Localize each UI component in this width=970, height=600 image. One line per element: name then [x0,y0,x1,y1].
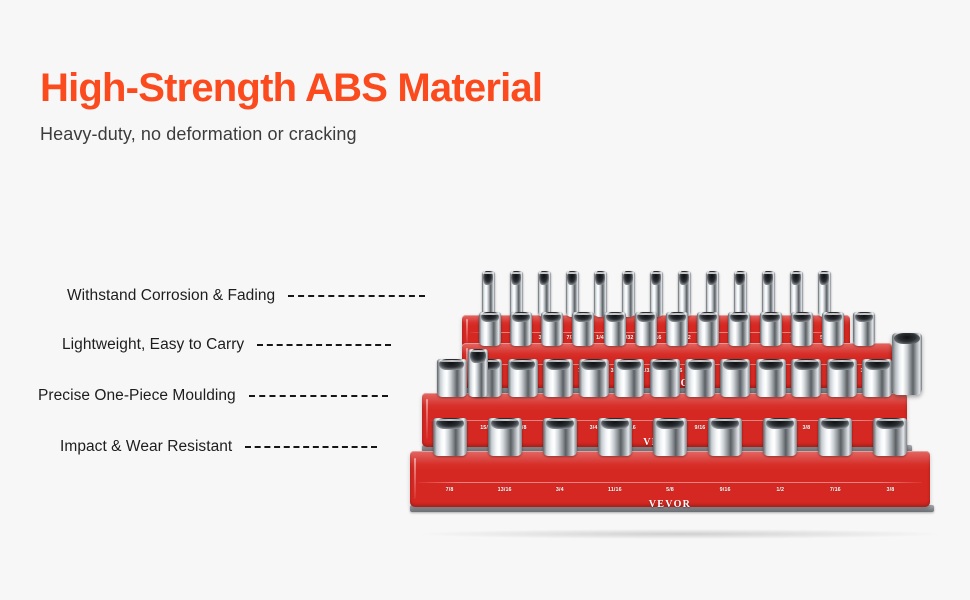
socket [614,359,644,397]
socket [706,271,719,317]
brand-logo: VEVOR [649,499,691,510]
socket [697,312,719,346]
feature-callout-3: Impact & Wear Resistant [60,437,377,457]
socket [873,418,907,456]
socket [510,312,532,346]
tray-score-line [418,482,922,483]
socket [635,312,657,346]
socket [604,312,626,346]
socket [763,418,797,456]
leader-line [257,344,391,346]
socket [853,312,875,346]
socket-tall-left [468,349,488,397]
socket-size-label: 5/8 [666,488,674,493]
socket [762,271,775,317]
socket [708,418,742,456]
socket-size-label: 9/16 [695,426,706,431]
socket [790,271,803,317]
socket [650,271,663,317]
socket [827,359,857,397]
socket [678,271,691,317]
socket-tray-4: 7/813/163/411/165/89/161/27/163/8VEVOR [410,451,930,507]
socket [822,312,844,346]
socket [818,418,852,456]
socket [488,418,522,456]
feature-label: Lightweight, Easy to Carry [62,336,244,354]
socket [479,312,501,346]
socket-size-label: 3/8 [802,426,810,431]
socket-size-label: 1/4 [596,336,604,341]
socket [685,359,715,397]
leader-line [249,395,388,397]
socket [541,312,563,346]
socket [734,271,747,317]
socket [756,359,786,397]
socket [760,312,782,346]
socket-size-label: 13/16 [498,488,512,493]
socket [666,312,688,346]
socket [482,271,495,317]
socket-size-label: 3/4 [590,426,598,431]
deep-well-socket [892,333,922,395]
socket [862,359,892,397]
product-photo-socket-organizer: 1/85/323/167/321/49/325/1611/323/87/161/… [405,265,970,540]
socket [594,271,607,317]
socket [720,359,750,397]
socket [437,359,467,397]
socket [650,359,680,397]
socket-size-label: 3/8 [887,488,895,493]
page-subtitle: Heavy-duty, no deformation or cracking [40,124,357,145]
socket [598,418,632,456]
feature-label: Withstand Corrosion & Fading [67,287,275,305]
socket [728,312,750,346]
socket [818,271,831,317]
feature-callout-2: Precise One-Piece Moulding [38,386,388,406]
socket-size-label: 7/8 [446,488,454,493]
socket [433,418,467,456]
socket [791,359,821,397]
leader-line [245,446,377,448]
socket [579,359,609,397]
socket [566,271,579,317]
socket [543,359,573,397]
socket [543,418,577,456]
socket [508,359,538,397]
socket-size-label: 9/16 [720,488,731,493]
socket [538,271,551,317]
page-title: High-Strength ABS Material [40,66,542,111]
socket [510,271,523,317]
feature-label: Impact & Wear Resistant [60,438,232,456]
socket-size-label: 11/16 [608,488,622,493]
socket [572,312,594,346]
feature-label: Precise One-Piece Moulding [38,387,236,405]
socket [653,418,687,456]
feature-callout-0: Withstand Corrosion & Fading [67,286,425,306]
socket-size-label: 1/2 [776,488,784,493]
socket [622,271,635,317]
socket-size-label: 3/4 [556,488,564,493]
feature-callout-1: Lightweight, Easy to Carry [62,335,391,355]
socket [791,312,813,346]
marketing-banner: High-Strength ABS Material Heavy-duty, n… [0,0,970,600]
socket-size-label: 7/16 [830,488,841,493]
ground-shadow [420,529,940,539]
